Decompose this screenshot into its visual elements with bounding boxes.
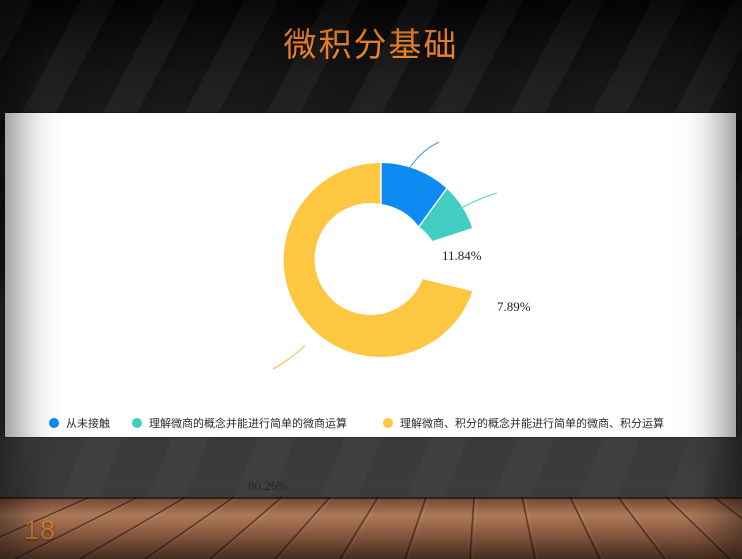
legend-label-1: 从未接触 [66, 415, 110, 431]
legend-label-2: 理解微商的概念并能进行简单的微商运算 [149, 415, 347, 431]
legend-item-1[interactable]: 从未接触 [49, 415, 110, 431]
legend-item-3[interactable]: 理解微商、积分的概念并能进行简单的微商、积分运算 [383, 415, 664, 431]
leader-line-2 [457, 193, 497, 210]
slide-number: 18 [24, 517, 56, 544]
donut-chart: 11.84% 7.89% 80.26% [5, 113, 736, 398]
leader-line-1 [409, 142, 439, 169]
donut-chart-svg [5, 113, 736, 398]
wooden-floor [0, 497, 742, 559]
pct-label-1: 11.84% [442, 248, 482, 263]
leader-line-3 [273, 346, 305, 369]
presentation-slide: 18 微积分基础 [0, 0, 742, 559]
slide-title: 微积分基础 [0, 24, 742, 66]
floor-wall-junction [0, 497, 742, 499]
floor-shading [0, 497, 742, 559]
chart-legend: 从未接触 理解微商的概念并能进行简单的微商运算 理解微商、积分的概念并能进行简单… [0, 412, 742, 434]
pct-label-2: 7.89% [497, 299, 531, 314]
legend-marker-icon-2 [132, 418, 142, 428]
wall-lower-stripes [0, 437, 742, 497]
pct-label-3: 80.26% [248, 478, 288, 493]
legend-marker-icon-3 [383, 418, 393, 428]
legend-item-2[interactable]: 理解微商的概念并能进行简单的微商运算 [132, 415, 347, 431]
chart-panel: 11.84% 7.89% 80.26% [5, 113, 736, 437]
legend-marker-icon-1 [49, 418, 59, 428]
legend-label-3: 理解微商、积分的概念并能进行简单的微商、积分运算 [400, 415, 664, 431]
